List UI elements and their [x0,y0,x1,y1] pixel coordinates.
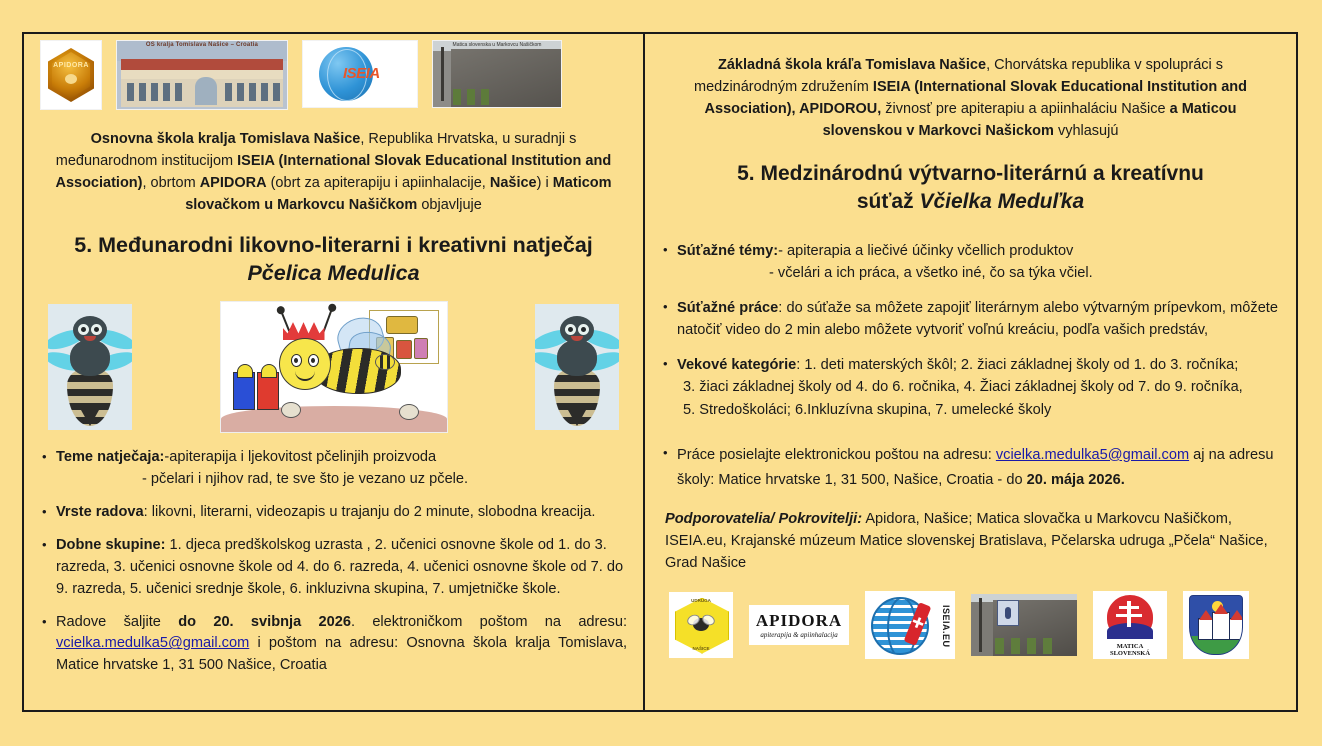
left-email-link[interactable]: vcielka.medulka5@gmail.com [56,635,249,651]
right-categories-label: Vekové kategórie [677,357,796,373]
right-intro-vyhlasuju: vyhlasujú [1054,123,1118,139]
left-bullet-age-groups: • Dobne skupine: 1. djeca predškolskog u… [42,535,627,601]
iseia-globe-logo: ISEIA [302,40,418,108]
right-email-link[interactable]: vcielka.medulka5@gmail.com [996,447,1189,463]
right-themes-text: - apiterapia a liečivé účinky včellich p… [778,243,1073,259]
left-title-line1: 5. Međunarodni likovno-literarni i kreat… [34,232,633,260]
left-intro-l3a1: , obrtom [142,175,199,191]
apidora-logo-text: APIDORA [48,62,94,69]
left-intro-l3a3: ) i [537,175,553,191]
left-submission-deadline: do 20. svibnja 2026 [178,614,351,630]
right-column-slovak: Základná škola kráľa Tomislava Našice, C… [645,34,1296,710]
church-icon [1198,618,1213,640]
church-icon [1212,612,1230,640]
school-photo-logo: OŠ kralja Tomislava Našice – Croatia [116,40,288,110]
matica-caption-line2: SLOVENSKÁ [1093,650,1167,657]
right-themes-line2: - včelári a ich práca, a všetko iné, čo … [677,262,1278,284]
bullet-dot-icon: • [663,297,677,341]
right-bullet-submission: • Práce posielajte elektronickou poštou … [663,443,1278,493]
right-title-line1: 5. Medzinárodnú výtvarno-literárnú a kre… [659,160,1282,188]
apidora-hex-bottom-text: NAŠICE [669,646,733,651]
bullet-dot-icon: • [42,535,56,601]
left-intro-l2a: međunarodnom institucijom [56,153,237,169]
grad-nasice-coat-of-arms [1183,591,1249,659]
bullet-dot-icon: • [42,612,56,678]
left-submission-mid: . elektroničkom poštom na adresu: [351,614,627,630]
right-bullet-list: • Súťažné témy:- apiterapia a liečivé úč… [663,240,1278,493]
left-title-line2: Pčelica Medulica [34,260,633,288]
left-artwork-row [48,301,619,433]
right-submission-deadline: 20. mája 2026. [1027,472,1125,488]
left-bullet-themes: • Teme natječaja:-apiterapija i ljekovit… [42,447,627,491]
left-intro-nasice: Našice [490,175,537,191]
left-themes-label: Teme natječaja: [56,449,164,465]
right-title: 5. Medzinárodnú výtvarno-literárnú a kre… [659,160,1282,215]
apidora-logo: APIDORA [40,40,102,110]
left-title: 5. Međunarodni likovno-literarni i kreat… [34,232,633,287]
matica-slovenska-logo: MATICA SLOVENSKÁ [1093,591,1167,659]
apidora-hex-bee-logo: UDRUGA NAŠICE [669,592,733,658]
left-intro-maticom: Maticom [553,175,612,191]
school-photo-caption: OŠ kralja Tomislava Našice – Croatia [117,42,287,48]
right-themes-label: Súťažné témy: [677,243,778,259]
iseia-wordmark: ISEIA [343,65,380,82]
right-bullet-themes: • Súťažné témy:- apiterapia a liečivé úč… [663,240,1278,284]
left-intro-apidora: APIDORA [200,175,267,191]
bottom-logo-row: UDRUGA NAŠICE APIDORA apiterapija & apii… [669,591,1282,659]
left-logo-row: APIDORA OŠ kralja Tomislava Našice – Cro… [34,40,633,118]
church-icon [1229,618,1243,640]
right-intro-association: Association), APIDOROU, [705,101,882,117]
right-intro-paragraph: Základná škola kráľa Tomislava Našice, C… [665,54,1276,142]
right-intro-l2a: medzinárodným združením [694,79,873,95]
matica-slovenska-caption: MATICA SLOVENSKÁ [1093,643,1167,658]
left-bullet-work-types: • Vrste radova: likovni, literarni, vide… [42,502,627,524]
left-agegroups-label: Dobne skupine: [56,537,165,553]
left-column-croatian: APIDORA OŠ kralja Tomislava Našice – Cro… [24,34,645,710]
right-categories-line2: 3. žiaci základnej školy od 4. do 6. roč… [677,376,1278,398]
left-intro-slovackom: slovačkom u Markovcu Našičkom [185,197,417,213]
crest-icon [997,600,1019,626]
right-intro-l3a1: živnosť pre apiterapiu a apiinhaláciu Na… [881,101,1165,117]
left-intro-school: Osnovna škola kralja Tomislava Našice [91,131,361,147]
right-title-line2-name: Včielka Meduľka [919,190,1084,213]
poster-frame: APIDORA OŠ kralja Tomislava Našice – Cro… [22,32,1298,712]
left-worktypes-label: Vrste radova [56,504,144,520]
right-bullet-works: • Súťažné práce: do súťaže sa môžete zap… [663,297,1278,341]
right-intro-iseia: ISEIA (International Slovak Educational … [873,79,1247,95]
right-intro-l1-rest: , Chorvátska republika v spolupráci s [986,57,1223,73]
iseia-eu-logo: ISEIA.EU [865,591,955,659]
right-submission-pre: Práce posielajte elektronickou poštou na… [677,447,996,463]
queen-bee-drawing [220,301,448,433]
matica-building-logo [971,594,1077,656]
bee-craft-left [48,304,132,430]
right-categories-line1: : 1. deti materských škôl; 2. žiaci zákl… [796,357,1238,373]
left-intro-l3a2: (obrt za apiterapiju i apiinhalacije, [267,175,490,191]
left-intro-association: Association) [55,175,142,191]
left-bullet-submission: • Radove šaljite do 20. svibnja 2026. el… [42,612,627,678]
right-works-label: Súťažné práce [677,300,778,316]
supporters-paragraph: Podporovatelia/ Pokrovitelji: Apidora, N… [665,509,1278,575]
apidora-wordmark-text: APIDORA [756,611,842,631]
bullet-dot-icon: • [663,443,677,493]
matica-photo-caption: Matica slovenska u Markovcu Našičkom [433,42,561,48]
bee-craft-right [535,304,619,430]
left-bullet-list: • Teme natječaja:-apiterapija i ljekovit… [42,447,627,677]
left-themes-text: -apiterapija i ljekovitost pčelinjih pro… [164,449,436,465]
left-intro-objavljuje: objavljuje [417,197,482,213]
iseia-eu-vertical-text: ISEIA.EU [941,605,951,648]
left-themes-line2: - pčelari i njihov rad, te sve što je ve… [56,469,627,491]
left-worktypes-text: : likovni, literarni, videozapis u traja… [144,504,596,520]
bullet-dot-icon: • [42,447,56,491]
left-intro-iseia: ISEIA (International Slovak Educational … [237,153,611,169]
left-intro-paragraph: Osnovna škola kralja Tomislava Našice, R… [40,128,627,216]
right-title-line2-pre: súťaž [857,190,920,213]
right-bullet-categories: • Vekové kategórie: 1. deti materských š… [663,354,1278,421]
left-intro-l1-rest: , Republika Hrvatska, u suradnji s [360,131,576,147]
bee-icon [65,74,77,84]
bullet-dot-icon: • [42,502,56,524]
right-categories-line3: 5. Stredoškoláci; 6.Inkluzívna skupina, … [677,399,1278,421]
matica-building-logo: Matica slovenska u Markovcu Našičkom [432,40,562,108]
supporters-heading: Podporovatelia/ Pokrovitelji: [665,511,862,527]
bullet-dot-icon: • [663,240,677,284]
left-submission-pre: Radove šaljite [56,614,178,630]
bee-icon [693,618,709,631]
bullet-dot-icon: • [663,354,677,421]
apidora-tagline: apiterapija & apiinhalacija [760,631,837,639]
apidora-hex-top-text: UDRUGA [669,598,733,603]
right-intro-school: Základná škola kráľa Tomislava Našice [718,57,986,73]
apidora-wordmark-logo: APIDORA apiterapija & apiinhalacija [749,605,849,645]
